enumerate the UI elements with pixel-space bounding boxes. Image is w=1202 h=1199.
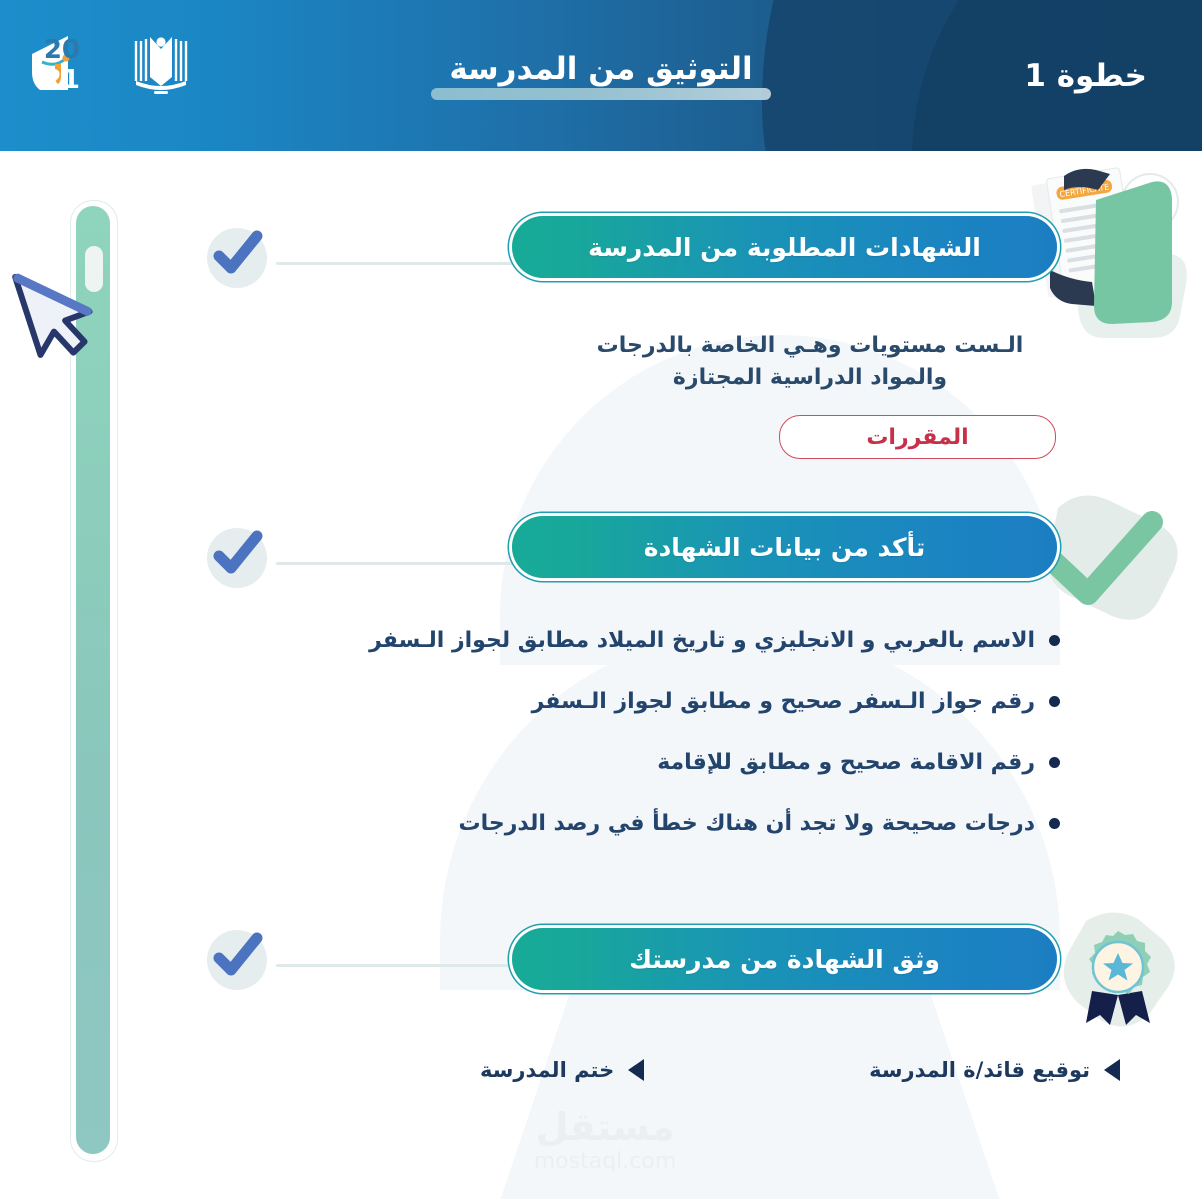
- step-badge: خطوة 1: [1024, 58, 1147, 94]
- check-mark-icon: [203, 520, 271, 588]
- description-line-2: والمواد الدراسية المجتازة: [560, 362, 1060, 394]
- connector-line-1: [276, 262, 516, 265]
- connector-line-2: [276, 562, 516, 565]
- award-ribbon-badge-illustration: [1050, 905, 1190, 1035]
- list-item: رقم جواز الـسفر صحيح و مطابق لجواز الـسف…: [300, 689, 1060, 714]
- page-title: التوثيق من المدرسة: [449, 52, 752, 88]
- list-item-label: رقم الاقامة صحيح و مطابق للإقامة: [657, 750, 1035, 775]
- card-label: وثق الشهادة من مدرستك: [629, 945, 940, 974]
- card-verify-certificate-data[interactable]: تأكد من بيانات الشهادة: [512, 516, 1057, 578]
- list-item: رقم الاقامة صحيح و مطابق للإقامة: [300, 750, 1060, 775]
- watermark-brand-en: mostaql.com: [534, 1149, 677, 1174]
- card-required-certificates[interactable]: الشهادات المطلوبة من المدرسة: [512, 216, 1057, 278]
- list-item: الاسم بالعربي و الانجليزي و تاريخ الميلا…: [300, 628, 1060, 653]
- signature-row: توقيع قائد/ة المدرسة ختم المدرسة: [480, 1050, 1120, 1090]
- title-underline: [431, 88, 770, 100]
- verification-bullet-list: الاسم بالعربي و الانجليزي و تاريخ الميلا…: [300, 628, 1060, 836]
- description-line-1: الـست مستويات وهـي الخاصة بالدرجات: [560, 330, 1060, 362]
- card-authenticate-certificate[interactable]: وثق الشهادة من مدرستك: [512, 928, 1057, 990]
- card-label: تأكد من بيانات الشهادة: [644, 533, 926, 562]
- watermark-brand-ar: مستقل: [536, 1105, 675, 1149]
- card-label: الشهادات المطلوبة من المدرسة: [588, 233, 981, 262]
- section-1-description: الـست مستويات وهـي الخاصة بالدرجات والمو…: [560, 330, 1060, 394]
- green-check-illustration: [1040, 490, 1200, 630]
- list-item: درجات صحيحة ولا تجد أن هناك خطأ في رصد ا…: [300, 811, 1060, 836]
- check-mark-icon: [203, 220, 271, 288]
- list-item-label: الاسم بالعربي و الانجليزي و تاريخ الميلا…: [369, 628, 1035, 653]
- check-mark-icon: [203, 922, 271, 990]
- list-item-label: درجات صحيحة ولا تجد أن هناك خطأ في رصد ا…: [458, 811, 1035, 836]
- signature-item-stamp: ختم المدرسة: [480, 1058, 644, 1082]
- triangle-arrow-icon: [1104, 1059, 1120, 1081]
- svg-text:21: 21: [44, 65, 80, 95]
- courses-pill-label: المقررات: [866, 425, 968, 450]
- sidebar-item-check-2[interactable]: [207, 528, 267, 588]
- bullet-dot-icon: [1049, 757, 1060, 768]
- sidebar-item-check-1[interactable]: [207, 228, 267, 288]
- graduation-cap-2021-logo-icon: 20 21: [28, 28, 112, 98]
- connector-line-3: [276, 964, 516, 967]
- logo-group: 20 21: [28, 28, 192, 98]
- svg-text:20: 20: [44, 35, 80, 65]
- bullet-dot-icon: [1049, 635, 1060, 646]
- triangle-arrow-icon: [628, 1059, 644, 1081]
- signature-label: ختم المدرسة: [480, 1058, 614, 1082]
- signature-label: توقيع قائد/ة المدرسة: [869, 1058, 1090, 1082]
- infographic-page: 20 21 التوثيق من المدرسة خطوة 1: [0, 0, 1202, 1199]
- sidebar-item-check-3[interactable]: [207, 930, 267, 990]
- courses-pill-button[interactable]: المقررات: [779, 415, 1056, 459]
- mouse-cursor-icon: [8, 252, 104, 372]
- bullet-dot-icon: [1049, 818, 1060, 829]
- list-item-label: رقم جواز الـسفر صحيح و مطابق لجواز الـسف…: [532, 689, 1035, 714]
- page-header: 20 21 التوثيق من المدرسة خطوة 1: [0, 0, 1202, 151]
- mostaql-watermark: مستقل mostaql.com: [500, 1100, 710, 1176]
- ministry-book-logo-icon: [130, 29, 192, 97]
- bullet-dot-icon: [1049, 696, 1060, 707]
- signature-item-principal: توقيع قائد/ة المدرسة: [869, 1058, 1120, 1082]
